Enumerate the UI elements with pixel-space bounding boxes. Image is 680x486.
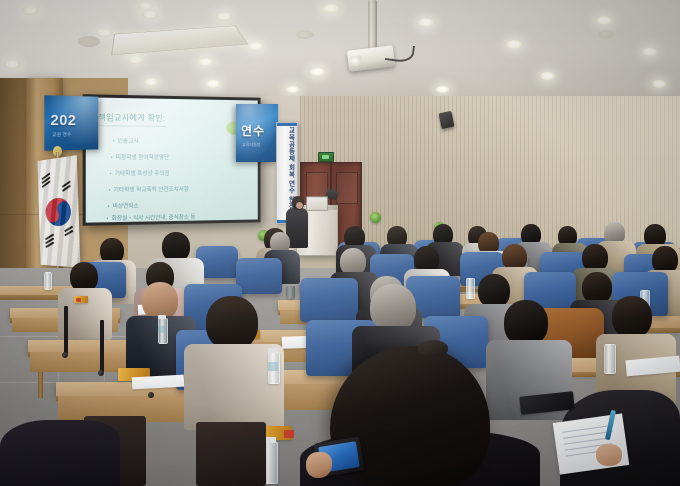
- ceiling-downlight: [540, 72, 555, 80]
- chair-caster: [98, 370, 104, 376]
- ceiling-vent: [78, 36, 100, 47]
- attendee-head: [206, 296, 258, 350]
- year-banner-subtitle: 교원 연수: [52, 132, 71, 138]
- training-banner-text: 연수: [241, 122, 265, 139]
- attendee-head: [612, 296, 652, 338]
- bottle-cap: [268, 348, 278, 353]
- bottle-label: [268, 362, 278, 371]
- year-banner: 202 교원 연수: [44, 95, 98, 150]
- slide-bullet: •기타학생 학교폭력 안전조치사항: [109, 185, 189, 194]
- handout-paper[interactable]: [553, 413, 630, 474]
- slide-bullet: •미참학생 참여학생명단: [111, 153, 169, 161]
- water-bottle[interactable]: [466, 278, 475, 299]
- attendee-head: [478, 274, 510, 308]
- desk-leg: [38, 372, 43, 398]
- left-wall-shadow-panel: [0, 78, 28, 290]
- chair-caster: [148, 392, 154, 398]
- ceiling-downlight: [142, 10, 158, 19]
- ceiling-vent: [598, 30, 614, 38]
- training-banner: 연수 교육지원청: [236, 104, 278, 162]
- hand: [306, 452, 332, 478]
- wall-emblem-icon: [370, 212, 381, 223]
- chair-leg: [100, 320, 104, 372]
- ceiling-downlight: [436, 86, 449, 93]
- exit-sign-icon: [318, 152, 334, 162]
- projection-screen: 책임교사에게 확인: •인솔교사 •미참학생 참여학생명단 •기타학생 특성상 …: [83, 94, 261, 226]
- ceiling-downlight: [322, 4, 339, 13]
- slide-title: 책임교사에게 확인:: [98, 112, 165, 124]
- slide-bullet: •비상연락소: [107, 201, 138, 210]
- vertical-banner-accent: [277, 123, 297, 126]
- training-banner-subtitle: 교육지원청: [242, 142, 260, 148]
- bag: [196, 422, 266, 486]
- door-panel: [336, 172, 358, 204]
- presenter-laptop: [306, 196, 328, 211]
- presenter-face: [296, 202, 303, 209]
- ceiling-downlight: [596, 16, 612, 25]
- hand: [596, 444, 622, 466]
- ceiling-downlight: [198, 58, 213, 66]
- ceiling-downlight: [286, 86, 299, 93]
- ceiling-downlight: [4, 60, 20, 69]
- projector-lens: [349, 55, 362, 66]
- lecture-hall-photo: 책임교사에게 확인: •인솔교사 •미참학생 참여학생명단 •기타학생 특성상 …: [0, 0, 680, 486]
- ceiling-downlight: [138, 2, 153, 10]
- ceiling-downlight: [310, 68, 325, 76]
- chair-caster: [62, 352, 68, 358]
- projector-mount-pole: [368, 0, 377, 50]
- ceiling-downlight: [642, 48, 657, 56]
- hair-clip: [418, 340, 448, 356]
- projected-slide: 책임교사에게 확인: •인솔교사 •미참학생 참여학생명단 •기타학생 특성상 …: [86, 97, 258, 222]
- chair-back[interactable]: [300, 278, 358, 322]
- ceiling-vent: [296, 30, 314, 39]
- chair-back[interactable]: [236, 258, 282, 294]
- ceiling-downlight: [216, 12, 232, 21]
- slide-bullet: •기타학생 특성상 주의점: [110, 169, 170, 177]
- water-bottle[interactable]: [604, 344, 616, 374]
- ceiling-downlight: [418, 18, 434, 27]
- flag-fold-shading: [37, 155, 80, 267]
- ceiling-downlight: [128, 56, 143, 64]
- attendee-head: [370, 284, 416, 332]
- ceiling-downlight: [206, 80, 220, 88]
- snack-wrapper: [76, 298, 81, 302]
- korean-flag-icon: [37, 155, 80, 267]
- year-banner-text: 202: [50, 112, 76, 129]
- paper-cup[interactable]: [286, 286, 295, 299]
- foreground-attendee-left: [0, 420, 120, 486]
- bottle-label: [158, 326, 166, 333]
- slide-bullet: •화장실・식사 시간안내, 중식장소 등: [106, 213, 195, 223]
- bottle-cap: [158, 315, 166, 319]
- ceiling-downlight: [96, 28, 112, 37]
- water-bottle[interactable]: [44, 272, 52, 290]
- ceiling-downlight: [248, 42, 263, 50]
- ceiling-downlight: [652, 80, 666, 88]
- snack-wrapper: [284, 430, 294, 438]
- ceiling-downlight: [506, 40, 522, 49]
- chair-leg: [64, 306, 68, 354]
- ceiling-downlight: [144, 78, 158, 86]
- ceiling-downlight: [22, 6, 39, 15]
- slide-bullet: •인솔교사: [113, 137, 139, 145]
